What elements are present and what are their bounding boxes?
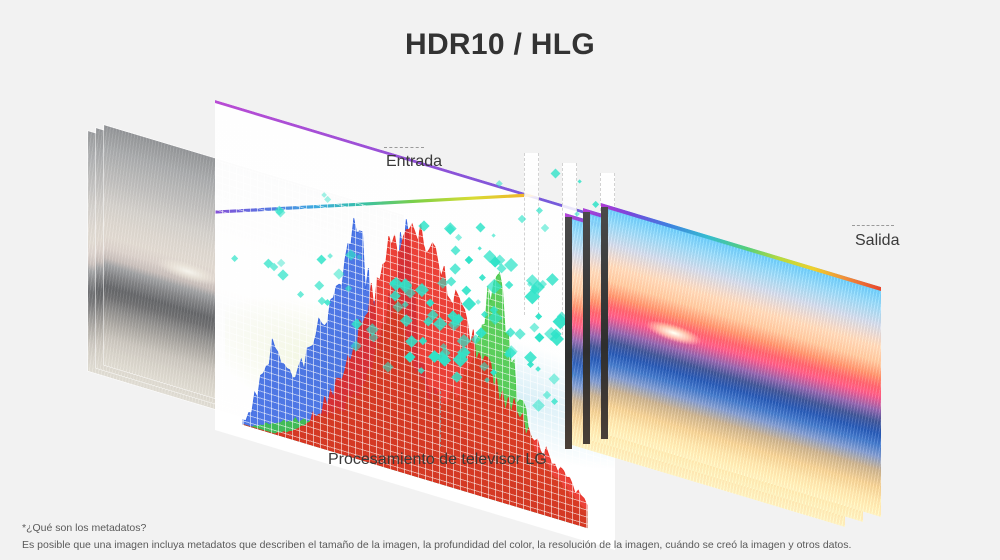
light-strip-1 <box>524 153 539 315</box>
rgb-histogram-svg <box>215 160 615 550</box>
input-leader-line <box>384 147 424 148</box>
rgb-histogram <box>215 160 615 550</box>
metadata-particle <box>592 201 600 209</box>
hdr-pipeline-diagram: Entrada Salida Procesamiento de televiso… <box>0 95 1000 510</box>
output-panel-side-back <box>565 217 572 449</box>
output-panel-side-middle <box>583 212 590 444</box>
footnote-line-2: Es posible que una imagen incluya metada… <box>22 537 952 554</box>
footnote: *¿Qué son los metadatos? Es posible que … <box>22 520 952 555</box>
output-leader-line <box>852 225 894 226</box>
output-frame-image-front <box>601 203 881 517</box>
processing-callout-label: Procesamiento de televisor LG <box>328 451 547 469</box>
output-panel-side-front <box>601 207 608 439</box>
page-title: HDR10 / HLG <box>0 28 1000 62</box>
output-callout-label: Salida <box>855 232 899 250</box>
input-callout-label: Entrada <box>386 153 442 171</box>
output-panel-front <box>601 203 881 517</box>
footnote-line-1: *¿Qué son los metadatos? <box>22 520 952 537</box>
metadata-particle <box>578 179 583 184</box>
processing-leader-line <box>440 391 441 447</box>
metadata-particle <box>550 169 560 179</box>
